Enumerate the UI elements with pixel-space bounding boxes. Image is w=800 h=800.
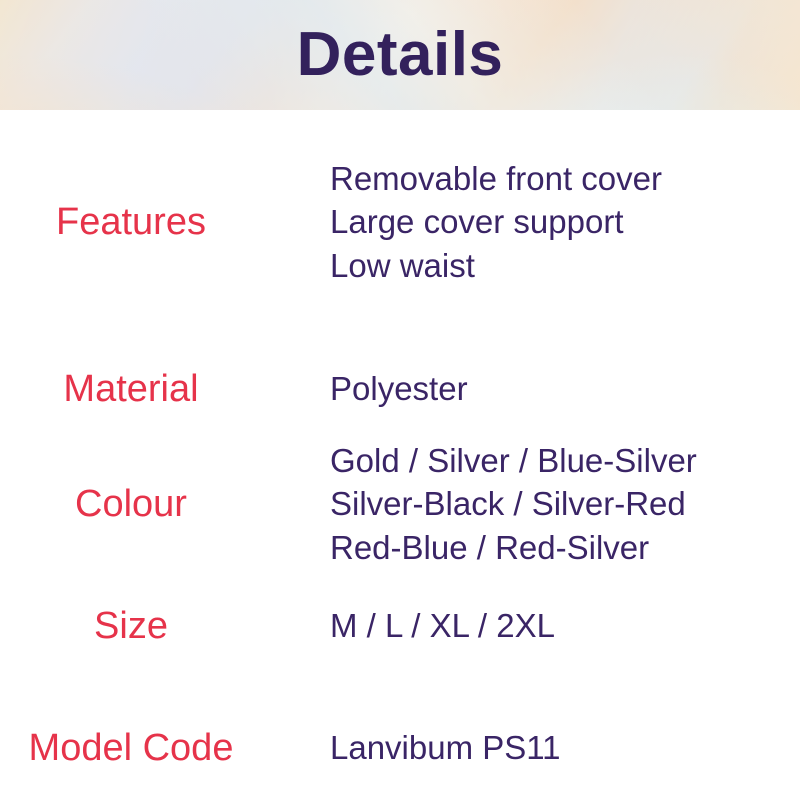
spec-value-line: Low waist: [330, 244, 800, 288]
spec-row-material: Material Polyester: [0, 350, 800, 428]
spec-row-colour: Colour Gold / Silver / Blue-Silver Silve…: [0, 434, 800, 574]
spec-value-size: M / L / XL / 2XL: [262, 604, 800, 648]
spec-label-colour: Colour: [0, 482, 262, 527]
details-page: Details Features Removable front cover L…: [0, 0, 800, 800]
spec-table: Features Removable front cover Large cov…: [0, 110, 800, 786]
spec-value-features: Removable front cover Large cover suppor…: [262, 157, 800, 288]
spec-label-features: Features: [0, 200, 262, 245]
spec-label-material: Material: [0, 367, 262, 412]
spec-value-line: Lanvibum PS11: [330, 726, 800, 770]
spec-value-colour: Gold / Silver / Blue-Silver Silver-Black…: [262, 439, 800, 570]
header-banner: Details: [0, 0, 800, 110]
spec-label-size: Size: [0, 604, 262, 649]
spec-value-line: Polyester: [330, 367, 800, 411]
page-title: Details: [0, 0, 800, 110]
spec-value-line: M / L / XL / 2XL: [330, 604, 800, 648]
spec-value-line: Large cover support: [330, 200, 800, 244]
spec-value-line: Red-Blue / Red-Silver: [330, 526, 800, 570]
spec-value-line: Silver-Black / Silver-Red: [330, 482, 800, 526]
spec-value-line: Gold / Silver / Blue-Silver: [330, 439, 800, 483]
spec-row-size: Size M / L / XL / 2XL: [0, 588, 800, 664]
spec-row-features: Features Removable front cover Large cov…: [0, 146, 800, 298]
spec-row-model-code: Model Code Lanvibum PS11: [0, 710, 800, 786]
spec-label-model-code: Model Code: [0, 726, 262, 771]
spec-value-line: Removable front cover: [330, 157, 800, 201]
spec-value-material: Polyester: [262, 367, 800, 411]
spec-value-model-code: Lanvibum PS11: [262, 726, 800, 770]
